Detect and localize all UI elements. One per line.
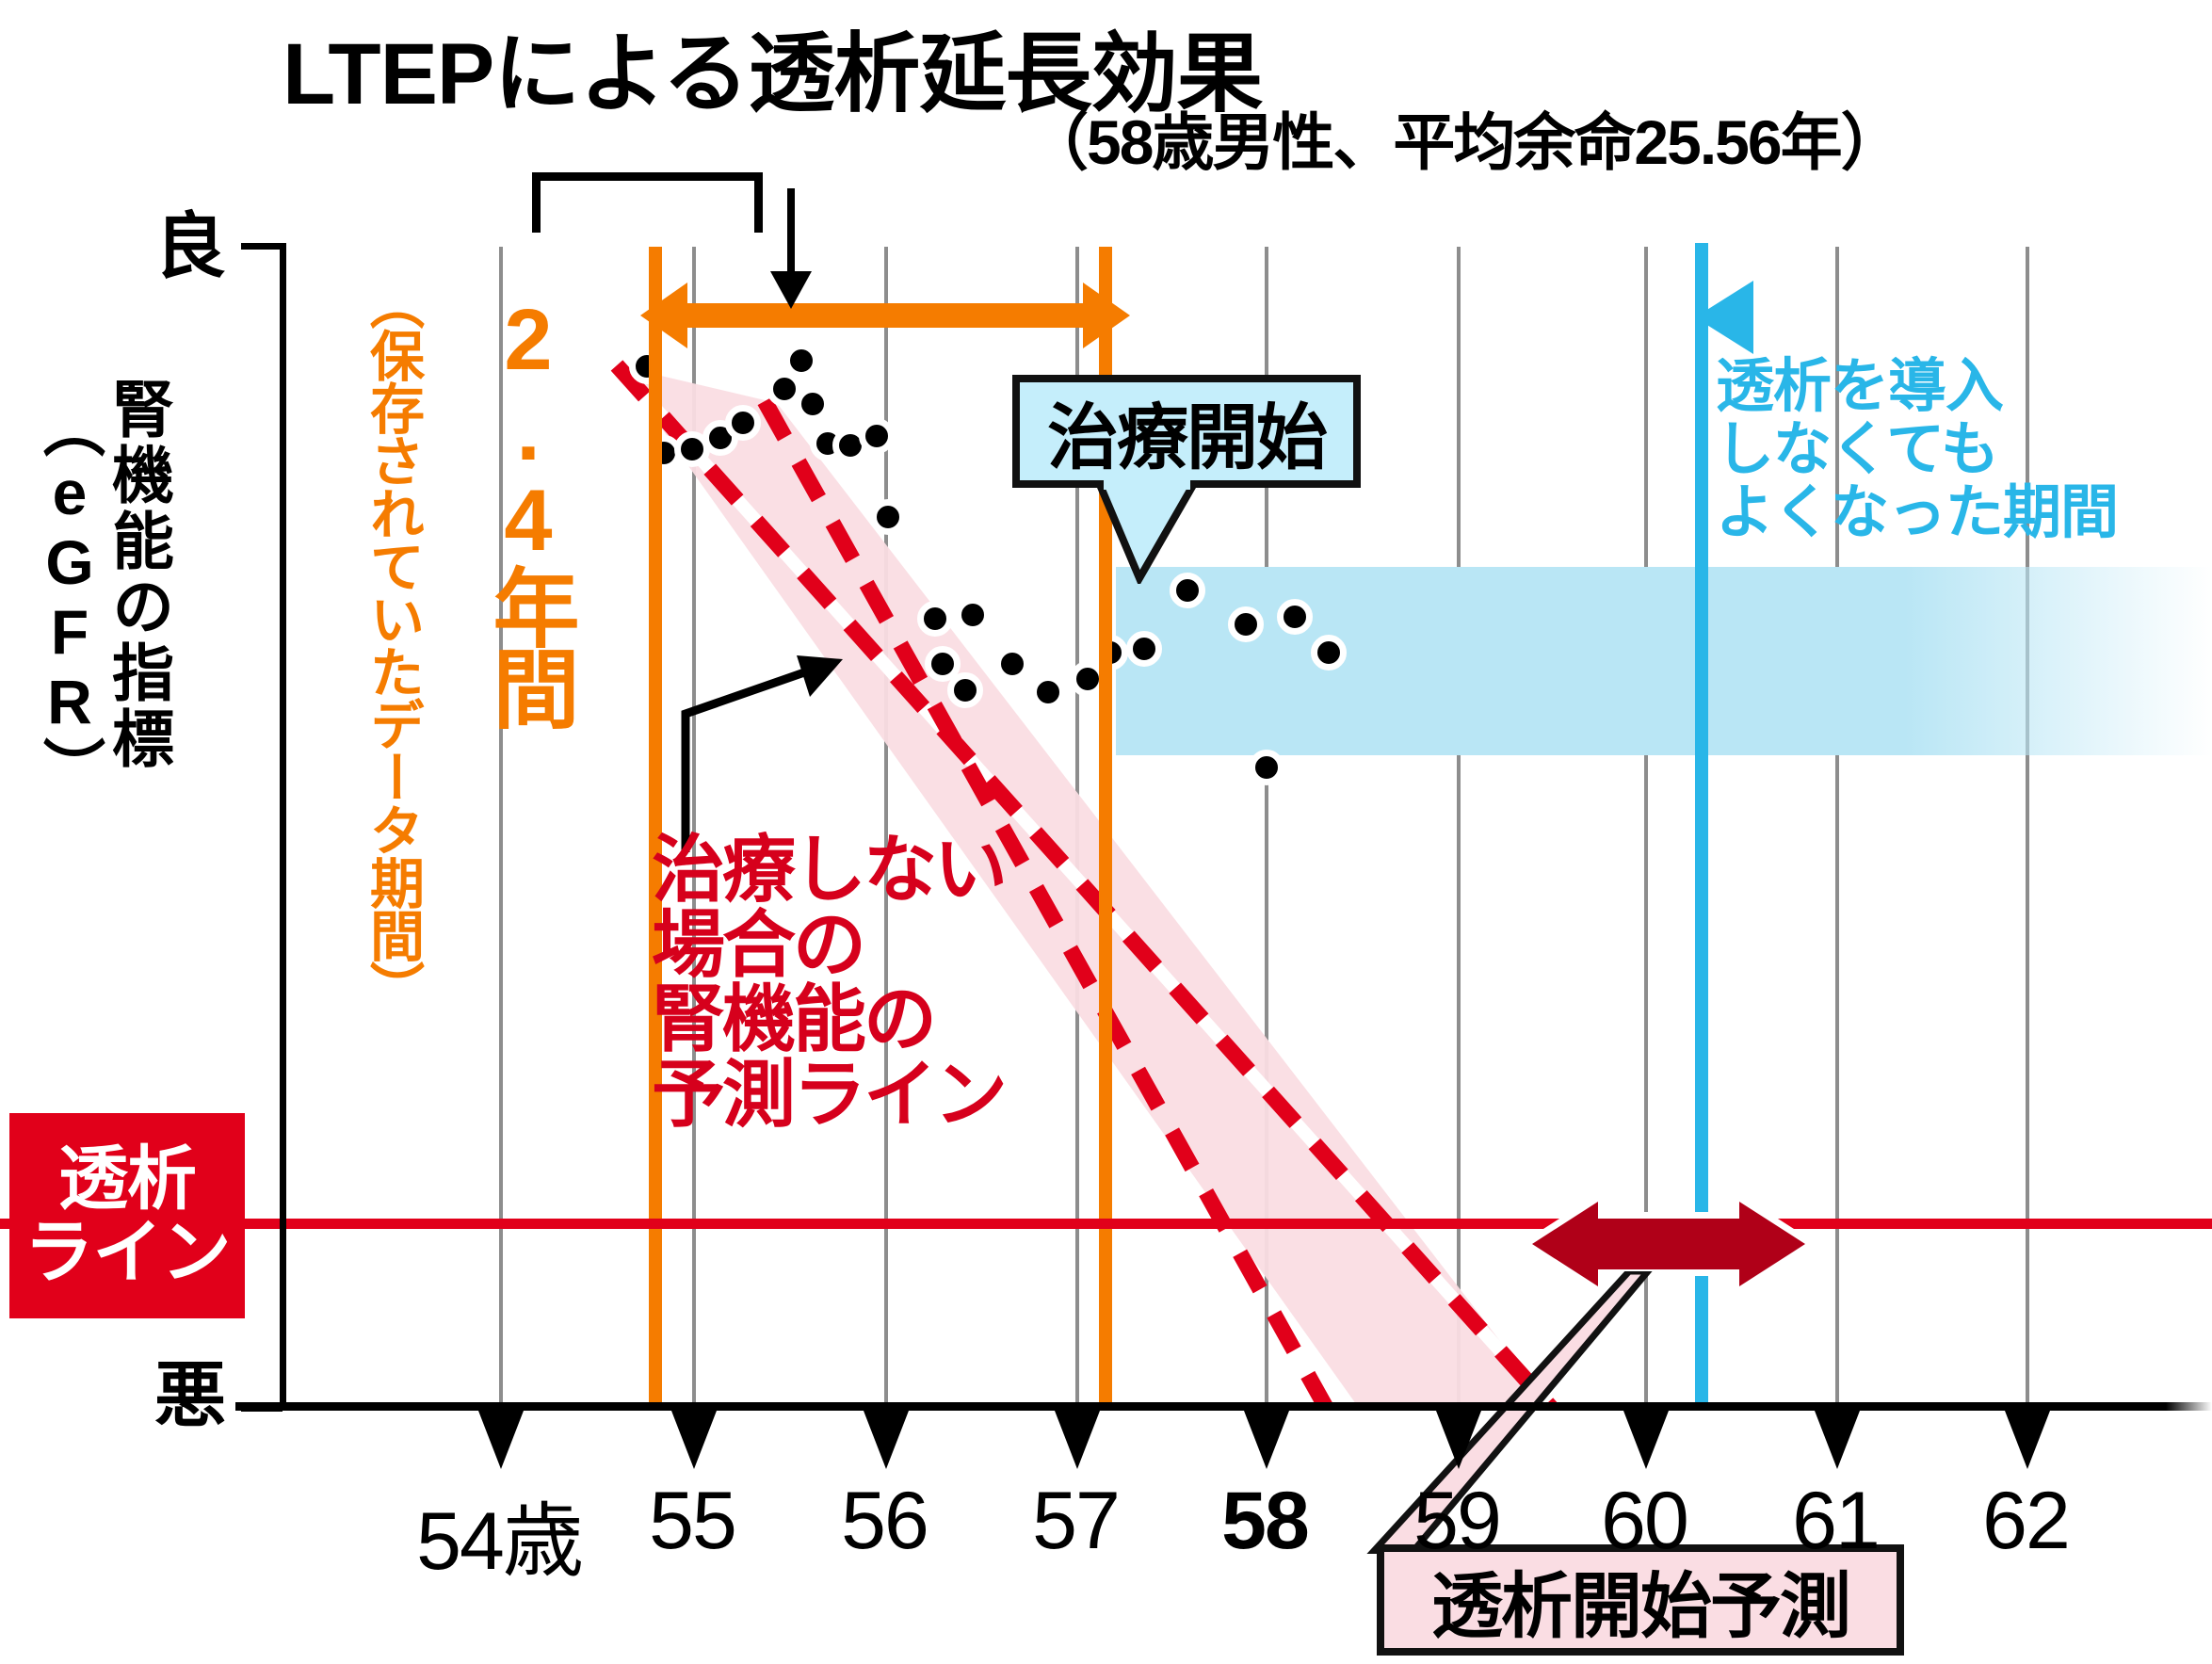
data-period-label: （保存されていたデータ期間） <box>350 275 431 1160</box>
treatment-start-callout: 治療開始 <box>1012 375 1361 488</box>
page-subtitle: （58歳男性、平均余命25.56年） <box>1026 92 2212 183</box>
dialysis-badge-line1: 透析 <box>24 1142 231 1216</box>
x-axis-tick-arrow-icon <box>1436 1411 1481 1469</box>
x-axis-tick-arrow-icon <box>671 1411 717 1469</box>
no-dialysis-label-line1: 透析を導入 <box>1716 356 2212 419</box>
prediction-label-line1: 治療しない <box>652 832 1066 908</box>
no-dialysis-period-label: 透析を導入 しなくても よくなった期間 <box>1716 356 2212 545</box>
prediction-band-pointer-arrow-icon <box>678 603 866 857</box>
data-point <box>859 418 895 454</box>
no-dialysis-label-line2: しなくても <box>1716 419 2212 482</box>
data-point <box>870 499 906 535</box>
data-point <box>1126 631 1162 667</box>
x-axis-label: 54歳 <box>405 1475 593 1592</box>
x-axis-tick-arrow-icon <box>2005 1411 2050 1469</box>
duration-bracket <box>532 172 763 233</box>
treatment-callout-tail <box>1090 480 1203 584</box>
x-axis-label: 61 <box>1741 1475 1929 1568</box>
x-axis-label: 55 <box>598 1475 786 1568</box>
x-axis-label: 56 <box>790 1475 978 1568</box>
duration-value-label: 2.4年間 <box>450 292 591 687</box>
x-axis-label: 57 <box>981 1475 1170 1568</box>
y-axis-line <box>280 243 286 1409</box>
no-dialysis-period-band <box>1116 567 2212 755</box>
x-axis-tick-arrow-icon <box>864 1411 909 1469</box>
data-point <box>725 405 761 441</box>
no-dialysis-label-line3: よくなった期間 <box>1716 482 2212 545</box>
x-axis-label: 59 <box>1363 1475 1551 1568</box>
prediction-label-line4: 予測ライン <box>652 1058 1066 1133</box>
data-point <box>795 386 831 422</box>
no-dialysis-arrow-cyan <box>1695 275 2212 360</box>
y-axis-bottom-label: 悪 <box>113 1337 226 1441</box>
x-axis-label: 62 <box>1931 1475 2120 1568</box>
x-axis-tick-arrow-icon <box>1623 1411 1669 1469</box>
data-point <box>1030 674 1066 710</box>
x-axis-tick-arrow-icon <box>478 1411 524 1469</box>
data-point <box>947 672 983 708</box>
duration-arrow-orange <box>640 273 1130 358</box>
prediction-line-label: 治療しない 場合の 腎機能の 予測ライン <box>652 832 1066 1132</box>
data-point <box>917 601 953 637</box>
x-axis-tick-arrow-icon <box>1055 1411 1100 1469</box>
prediction-label-line3: 腎機能の <box>652 982 1066 1058</box>
data-point <box>1277 599 1313 635</box>
data-point <box>1311 635 1347 670</box>
y-axis-subtitle: （eGFR） <box>21 396 115 998</box>
data-point <box>1228 606 1264 642</box>
dialysis-threshold-line <box>0 1219 2212 1229</box>
x-axis-label: 60 <box>1550 1475 1738 1568</box>
bracket-pointer-arrow-icon <box>753 188 829 311</box>
prediction-label-line2: 場合の <box>652 908 1066 983</box>
x-axis-label: 58 <box>1171 1475 1359 1568</box>
x-axis-tick-arrow-icon <box>1244 1411 1289 1469</box>
x-axis-line-fade <box>2166 1402 2212 1411</box>
x-axis-tick-arrow-icon <box>1815 1411 1860 1469</box>
y-axis-top-label: 良 <box>113 188 226 292</box>
data-point <box>955 597 991 633</box>
data-point <box>1249 750 1284 785</box>
data-point <box>994 646 1030 682</box>
data-period-start-line <box>649 247 662 1407</box>
dialysis-line-badge: 透析 ライン <box>9 1113 245 1318</box>
x-axis-line <box>235 1402 2166 1411</box>
dialysis-badge-line2: ライン <box>24 1216 231 1289</box>
